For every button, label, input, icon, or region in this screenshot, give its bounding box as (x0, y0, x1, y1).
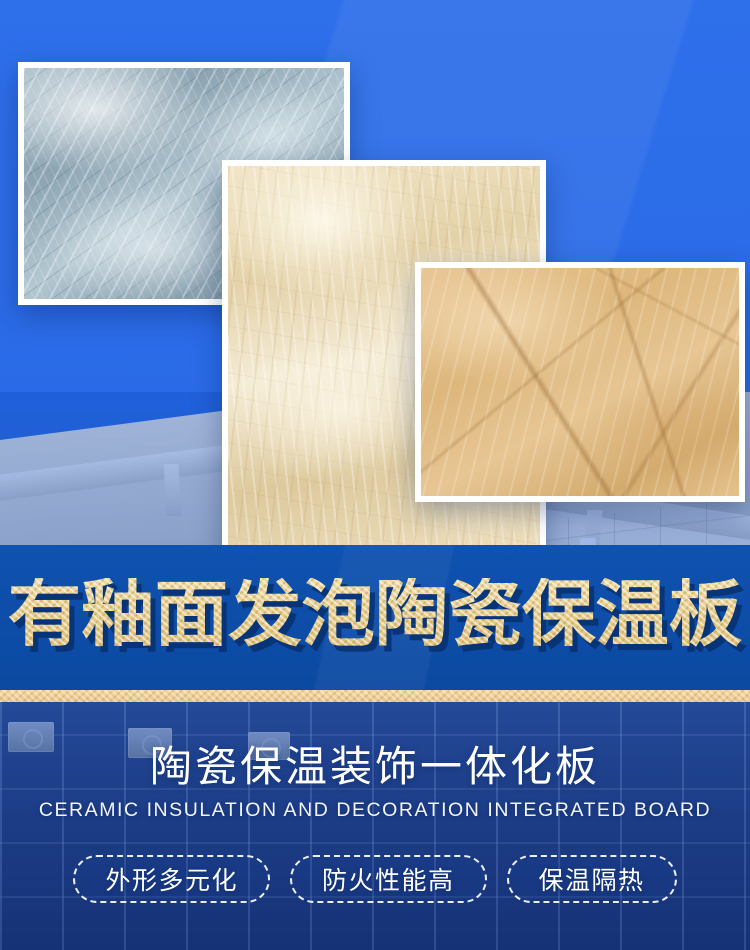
gold-divider (0, 690, 750, 702)
subtitle-english: CERAMIC INSULATION AND DECORATION INTEGR… (0, 799, 750, 822)
tile-sample-3-face (421, 268, 739, 496)
page-title: 有釉面发泡陶瓷保温板 (0, 578, 750, 650)
product-banner: 有釉面发泡陶瓷保温板 陶瓷保温装饰一体化板 CERAMIC INSULATION… (0, 0, 750, 950)
feature-badge-shape-diversity[interactable]: 外形多元化 (73, 855, 270, 903)
subtitle-chinese: 陶瓷保温装饰一体化板 (0, 744, 750, 790)
feature-badge-fire-resistance[interactable]: 防火性能高 (290, 855, 487, 903)
feature-badge-thermal-insulation[interactable]: 保温隔热 (507, 855, 677, 903)
tile-sample-3[interactable] (415, 262, 745, 502)
feature-badge-list: 外形多元化 防火性能高 保温隔热 (0, 855, 750, 903)
